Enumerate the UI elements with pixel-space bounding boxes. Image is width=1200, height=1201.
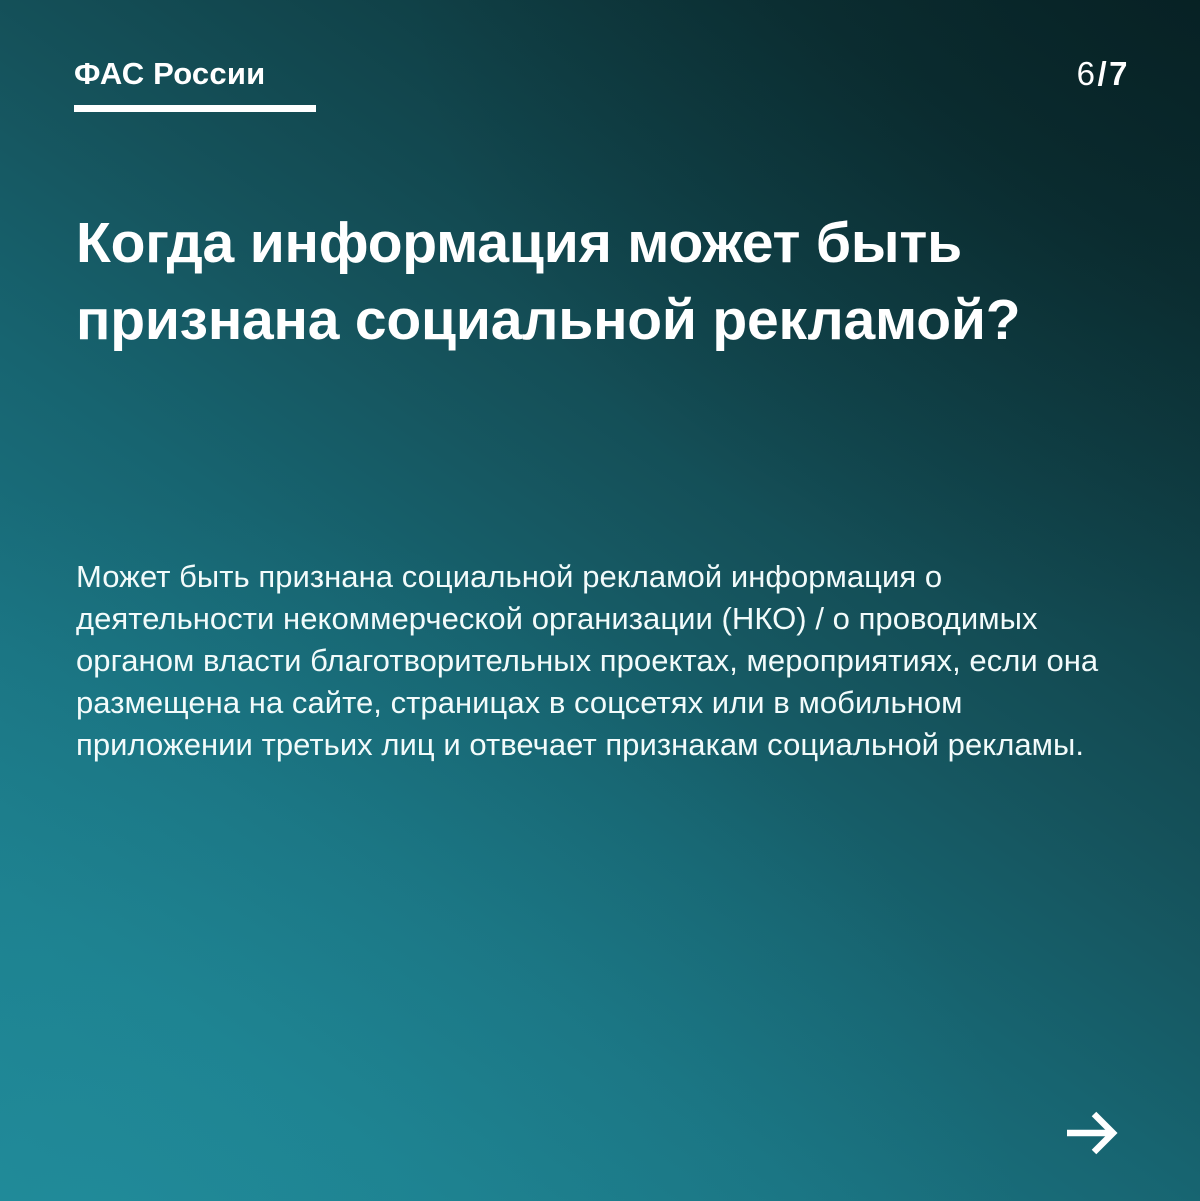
body-paragraph: Может быть признана социальной рекламой … — [76, 556, 1136, 766]
slide-counter: 6/7 — [1077, 55, 1128, 93]
slide-root: ФАС России 6/7 Когда информация может бы… — [0, 0, 1200, 1201]
slide-counter-separator: / — [1095, 55, 1109, 92]
slide-counter-total: 7 — [1109, 55, 1128, 92]
brand-underline-rule — [74, 105, 316, 112]
slide-counter-current: 6 — [1077, 55, 1096, 92]
brand-name: ФАС России — [74, 56, 316, 92]
next-slide-button[interactable] — [1062, 1104, 1120, 1162]
brand-lockup: ФАС России — [74, 56, 316, 112]
slide-header: ФАС России 6/7 — [0, 0, 1200, 150]
arrow-right-icon — [1062, 1104, 1120, 1162]
page-title: Когда информация может быть признана соц… — [76, 205, 1056, 359]
